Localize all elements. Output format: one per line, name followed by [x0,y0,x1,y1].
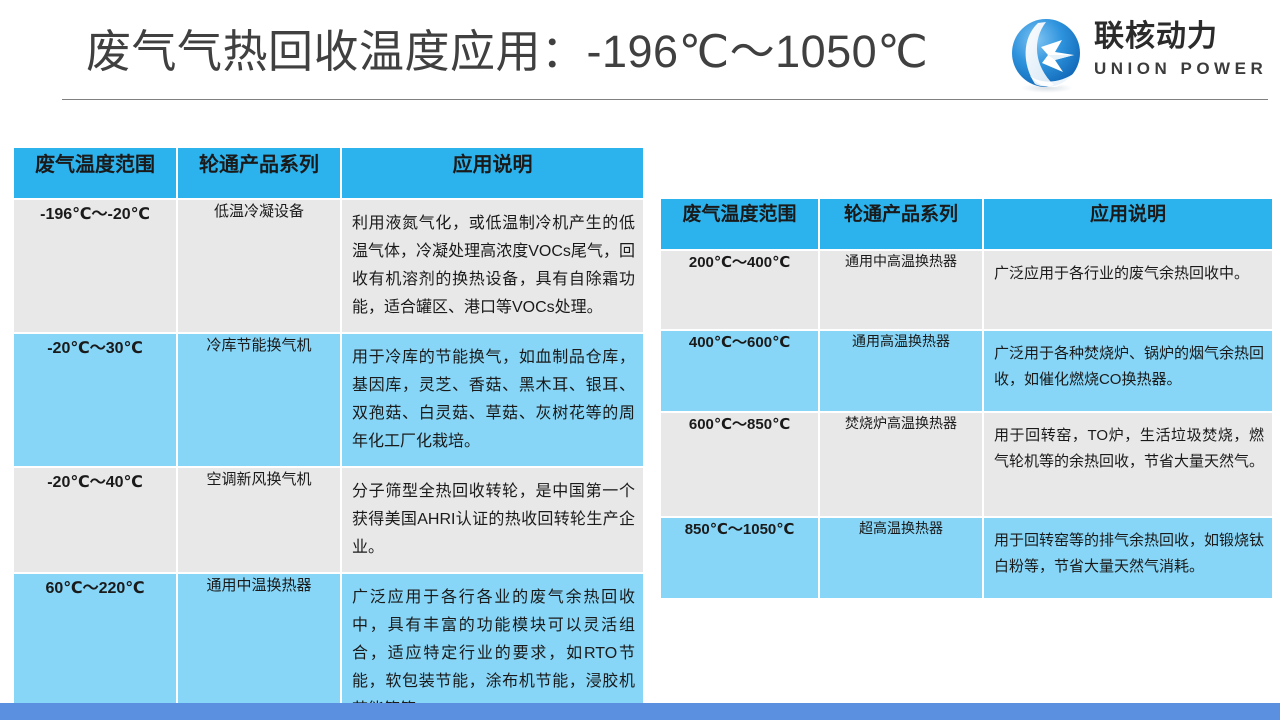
table-row: 400℃～600℃ 通用高温换热器 广泛用于各种焚烧炉、锅炉的烟气余热回收，如催… [661,331,1272,411]
column-header-application: 应用说明 [342,148,643,198]
cell-temp-range: 850℃～1050℃ [661,518,818,598]
cell-product: 空调新风换气机 [178,468,340,572]
cell-application: 用于回转窑，TO炉，生活垃圾焚烧，燃气轮机等的余热回收，节省大量天然气。 [984,413,1272,516]
cell-product: 焚烧炉高温换热器 [820,413,982,516]
footer-accent-bar [0,703,1280,720]
low-to-mid-temperature-table: 废气温度范围 轮通产品系列 应用说明 -196℃～-20℃ 低温冷凝设备 利用液… [12,146,645,720]
cell-application: 分子筛型全热回收转轮，是中国第一个获得美国AHRI认证的热收回转轮生产企业。 [342,468,643,572]
table-row: 850℃～1050℃ 超高温换热器 用于回转窑等的排气余热回收，如锻烧钛白粉等，… [661,518,1272,598]
table-row: 60℃～220℃ 通用中温换热器 广泛应用于各行各业的废气余热回收中，具有丰富的… [14,574,643,720]
column-header-application: 应用说明 [984,199,1272,249]
logo-name-cn: 联核动力 [1094,20,1270,54]
cell-temp-range: 60℃～220℃ [14,574,176,720]
table-row: -196℃～-20℃ 低温冷凝设备 利用液氮气化，或低温制冷机产生的低温气体，冷… [14,200,643,332]
column-header-temp-range: 废气温度范围 [14,148,176,198]
cell-application: 用于回转窑等的排气余热回收，如锻烧钛白粉等，节省大量天然气消耗。 [984,518,1272,598]
cell-temp-range: 200℃～400℃ [661,251,818,329]
table-row: -20℃～30℃ 冷库节能换气机 用于冷库的节能换气，如血制品仓库，基因库，灵芝… [14,334,643,466]
cell-product: 冷库节能换气机 [178,334,340,466]
table-header-row: 废气温度范围 轮通产品系列 应用说明 [661,199,1272,249]
union-power-globe-icon [1008,16,1086,94]
cell-temp-range: -20℃～30℃ [14,334,176,466]
column-header-product: 轮通产品系列 [820,199,982,249]
cell-temp-range: 400℃～600℃ [661,331,818,411]
table-row: -20℃～40℃ 空调新风换气机 分子筛型全热回收转轮，是中国第一个获得美国AH… [14,468,643,572]
cell-product: 通用中高温换热器 [820,251,982,329]
cell-temp-range: -196℃～-20℃ [14,200,176,332]
table-row: 600℃～850℃ 焚烧炉高温换热器 用于回转窑，TO炉，生活垃圾焚烧，燃气轮机… [661,413,1272,516]
cell-product: 通用中温换热器 [178,574,340,720]
high-temperature-table: 废气温度范围 轮通产品系列 应用说明 200℃～400℃ 通用中高温换热器 广泛… [659,197,1274,600]
table-header-row: 废气温度范围 轮通产品系列 应用说明 [14,148,643,198]
company-logo: 联核动力 UNION POWER [1008,14,1270,94]
cell-temp-range: 600℃～850℃ [661,413,818,516]
page-title: 废气气热回收温度应用：-196℃～1050℃ [86,22,928,82]
cell-application: 利用液氮气化，或低温制冷机产生的低温气体，冷凝处理高浓度VOCs尾气，回收有机溶… [342,200,643,332]
table-row: 200℃～400℃ 通用中高温换热器 广泛应用于各行业的废气余热回收中。 [661,251,1272,329]
cell-product: 超高温换热器 [820,518,982,598]
cell-application: 广泛应用于各行各业的废气余热回收中，具有丰富的功能模块可以灵活组合，适应特定行业… [342,574,643,720]
cell-product: 低温冷凝设备 [178,200,340,332]
slide-canvas: 废气气热回收温度应用：-196℃～1050℃ [0,0,1280,720]
logo-wordmark: 联核动力 UNION POWER [1094,20,1270,80]
column-header-product: 轮通产品系列 [178,148,340,198]
title-divider [62,99,1268,100]
cell-product: 通用高温换热器 [820,331,982,411]
logo-name-en: UNION POWER [1094,58,1270,80]
cell-application: 广泛应用于各行业的废气余热回收中。 [984,251,1272,329]
cell-temp-range: -20℃～40℃ [14,468,176,572]
cell-application: 广泛用于各种焚烧炉、锅炉的烟气余热回收，如催化燃烧CO换热器。 [984,331,1272,411]
column-header-temp-range: 废气温度范围 [661,199,818,249]
cell-application: 用于冷库的节能换气，如血制品仓库，基因库，灵芝、香菇、黑木耳、银耳、双孢菇、白灵… [342,334,643,466]
